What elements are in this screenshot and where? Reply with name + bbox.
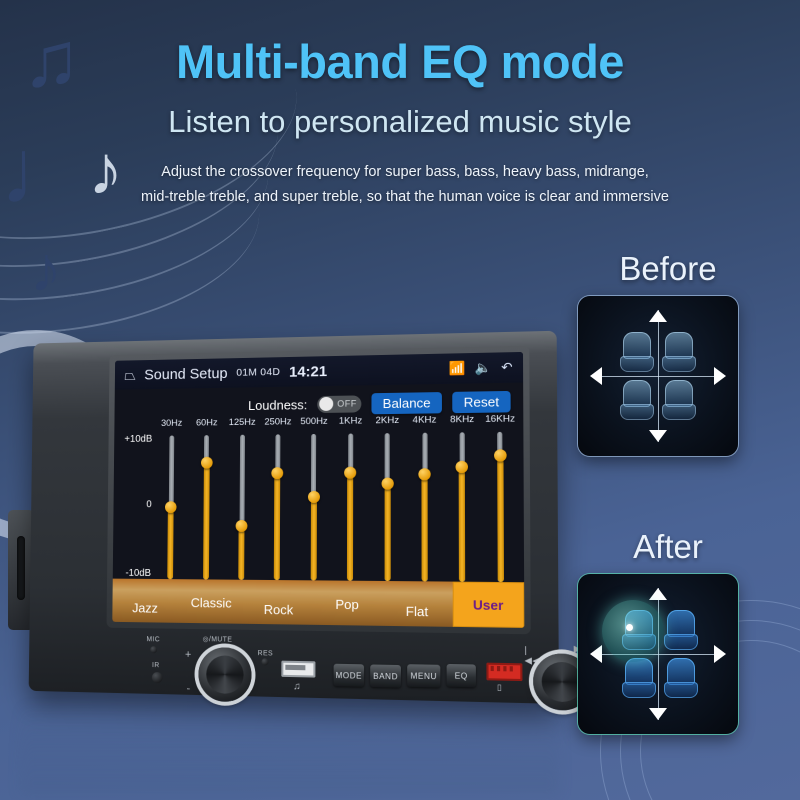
- eq-slider[interactable]: [369, 433, 406, 581]
- seat-base: [622, 682, 656, 698]
- car-stereo-head-unit: ⏢ Sound Setup 01M 04D 14:21 📶 🔈 ↶ Loudne…: [8, 330, 568, 710]
- mute-text: /MUTE: [209, 636, 232, 643]
- loudness-state: OFF: [337, 398, 357, 408]
- seat-back: [623, 380, 651, 407]
- after-label: After: [548, 528, 788, 566]
- mic-hole: [150, 646, 157, 653]
- reset-pinhole[interactable]: [261, 658, 268, 665]
- preset-rock[interactable]: Rock: [245, 587, 313, 617]
- scale-bottom: -10dB: [125, 568, 151, 579]
- seat-base: [664, 634, 698, 650]
- volume-minus-label: -: [187, 683, 191, 695]
- preset-classic[interactable]: Classic: [178, 593, 245, 611]
- sd-card-slot[interactable]: [486, 663, 522, 681]
- eq-slider[interactable]: [443, 432, 481, 582]
- slider-fill: [203, 462, 210, 579]
- res-label: RES: [258, 650, 274, 657]
- slider-fill: [347, 473, 353, 581]
- unit-chassis: ⏢ Sound Setup 01M 04D 14:21 📶 🔈 ↶ Loudne…: [29, 331, 559, 704]
- arrow-left-icon[interactable]: [590, 367, 602, 385]
- clock-display: 14:21: [289, 363, 327, 381]
- frequency-label: 1KHz: [332, 415, 369, 431]
- preset-user[interactable]: User: [452, 582, 524, 628]
- seat-back: [667, 610, 695, 637]
- arrow-down-icon[interactable]: [649, 430, 667, 442]
- frequency-label: 125Hz: [224, 417, 260, 433]
- eq-slider[interactable]: [332, 433, 369, 580]
- band-button[interactable]: BAND: [370, 664, 401, 687]
- mode-button[interactable]: MODE: [334, 664, 365, 687]
- sd-card-icon: ▯: [497, 683, 502, 692]
- slider-knob[interactable]: [494, 450, 507, 462]
- seat-back: [623, 332, 651, 359]
- scale-top: +10dB: [124, 434, 152, 445]
- seat-rear-right: [662, 380, 696, 420]
- eq-slider[interactable]: [259, 434, 296, 580]
- arrow-down-icon[interactable]: [649, 708, 667, 720]
- slider-fill: [459, 467, 466, 582]
- seat-base: [664, 682, 698, 698]
- reset-button[interactable]: Reset: [452, 390, 510, 412]
- preset-flat[interactable]: Flat: [382, 589, 453, 620]
- db-scale: +10dB 0 -10dB: [115, 434, 155, 579]
- sound-focus-point[interactable]: [626, 624, 633, 631]
- prev-track-label: |◀◀: [524, 645, 540, 667]
- eq-slider[interactable]: [223, 435, 260, 580]
- eq-slider[interactable]: [295, 434, 332, 581]
- arrow-right-icon[interactable]: [714, 367, 726, 385]
- before-label: Before: [548, 250, 788, 288]
- volume-icon[interactable]: 🔈: [475, 360, 492, 377]
- seat-back: [665, 380, 693, 407]
- eq-slider[interactable]: [406, 433, 444, 582]
- slider-fill: [167, 507, 173, 579]
- status-spacer: [336, 369, 439, 371]
- seat-base: [662, 356, 696, 372]
- eq-button[interactable]: EQ: [447, 664, 476, 687]
- seat-front-left: [620, 332, 654, 372]
- seat-base: [620, 356, 654, 372]
- arrow-right-icon[interactable]: [714, 645, 726, 663]
- slider-knob[interactable]: [165, 501, 177, 513]
- slider-fill: [384, 483, 390, 581]
- eq-slider[interactable]: [188, 435, 224, 580]
- eq-slider[interactable]: [153, 435, 189, 579]
- seat-front-right: [664, 610, 698, 650]
- after-balance-panel[interactable]: [578, 574, 738, 734]
- unit-reflection: [20, 700, 560, 795]
- frequency-label: 4KHz: [406, 414, 443, 431]
- frequency-label: 250Hz: [260, 416, 296, 432]
- loudness-toggle[interactable]: OFF: [317, 395, 361, 413]
- date-display: 01M 04D: [236, 366, 280, 379]
- volume-plus-label: +: [185, 649, 192, 661]
- mute-label: ◎/MUTE: [203, 635, 233, 644]
- arrow-left-icon[interactable]: [590, 645, 602, 663]
- slider-knob[interactable]: [236, 520, 248, 532]
- slider-knob[interactable]: [201, 457, 213, 469]
- bracket-slot: [17, 536, 25, 600]
- eq-slider-group[interactable]: [153, 432, 520, 582]
- ir-receiver: [152, 672, 163, 683]
- music-note-icon: ♪: [30, 232, 62, 306]
- frequency-label: 500Hz: [296, 416, 332, 432]
- page-title: Multi-band EQ mode: [0, 34, 800, 89]
- slider-knob[interactable]: [381, 477, 393, 489]
- usb-contacts: [285, 665, 305, 670]
- eq-slider[interactable]: [481, 432, 520, 582]
- sound-focus-bubble: [602, 600, 664, 662]
- description-line-1: Adjust the crossover frequency for super…: [161, 164, 649, 180]
- sd-contacts: [491, 666, 516, 672]
- seat-base: [662, 404, 696, 420]
- seat-front-right: [662, 332, 696, 372]
- slider-knob[interactable]: [272, 468, 284, 480]
- touchscreen-display[interactable]: ⏢ Sound Setup 01M 04D 14:21 📶 🔈 ↶ Loudne…: [112, 352, 524, 628]
- usb-port[interactable]: [281, 661, 315, 678]
- frequency-label: 30Hz: [154, 418, 189, 434]
- seat-back: [625, 658, 653, 685]
- seat-back: [667, 658, 695, 685]
- ir-label: IR: [152, 662, 160, 669]
- frequency-label: 8KHz: [443, 414, 481, 431]
- volume-knob[interactable]: [198, 647, 251, 702]
- preset-pop[interactable]: Pop: [313, 594, 382, 612]
- slider-fill: [497, 456, 504, 582]
- slider-knob[interactable]: [418, 468, 430, 480]
- arrow-up-icon[interactable]: [649, 310, 667, 322]
- preset-jazz[interactable]: Jazz: [112, 586, 178, 615]
- slider-fill: [311, 497, 317, 581]
- scale-mid: 0: [146, 499, 151, 510]
- slider-fill: [421, 474, 427, 581]
- slider-knob[interactable]: [456, 460, 469, 472]
- seat-rear-right: [664, 658, 698, 698]
- equalizer-panel: 30Hz60Hz125Hz250Hz500Hz1KHz2KHz4KHz8KHz1…: [112, 413, 524, 628]
- bluetooth-icon[interactable]: 📶: [449, 360, 466, 377]
- frequency-label: 60Hz: [189, 417, 224, 433]
- menu-button[interactable]: MENU: [407, 664, 440, 687]
- arrow-up-icon[interactable]: [649, 588, 667, 600]
- mic-label: MIC: [146, 636, 160, 643]
- slider-knob[interactable]: [308, 491, 320, 503]
- front-control-panel: MIC IR ◎/MUTE + - RES ♫ MODE BAND MENU E…: [110, 634, 534, 699]
- crosshair-horizontal: [592, 376, 724, 377]
- description-line-2: mid-treble treble, and super treble, so …: [141, 189, 669, 205]
- preset-bar[interactable]: JazzClassicRockPopFlatUser: [112, 579, 524, 628]
- seat-rear-left: [620, 380, 654, 420]
- loudness-label: Loudness:: [248, 397, 307, 413]
- toggle-knob: [319, 397, 333, 411]
- page-subtitle: Listen to personalized music style: [0, 104, 800, 140]
- before-balance-panel[interactable]: [578, 296, 738, 456]
- back-arrow-icon[interactable]: ↶: [501, 359, 512, 376]
- slider-fill: [274, 474, 280, 581]
- slider-knob[interactable]: [344, 467, 356, 479]
- seat-back: [665, 332, 693, 359]
- screen-title: Sound Setup: [144, 365, 227, 383]
- home-icon[interactable]: ⏢: [124, 367, 136, 384]
- screen-bezel: ⏢ Sound Setup 01M 04D 14:21 📶 🔈 ↶ Loudne…: [107, 346, 531, 635]
- frequency-label: 16KHz: [481, 413, 519, 430]
- balance-button[interactable]: Balance: [372, 392, 442, 414]
- page-description: Adjust the crossover frequency for super…: [110, 160, 700, 211]
- music-note-icon: ♫: [293, 681, 301, 692]
- slider-fill: [238, 526, 244, 580]
- seat-rear-left: [622, 658, 656, 698]
- frequency-label: 2KHz: [369, 415, 406, 432]
- seat-base: [620, 404, 654, 420]
